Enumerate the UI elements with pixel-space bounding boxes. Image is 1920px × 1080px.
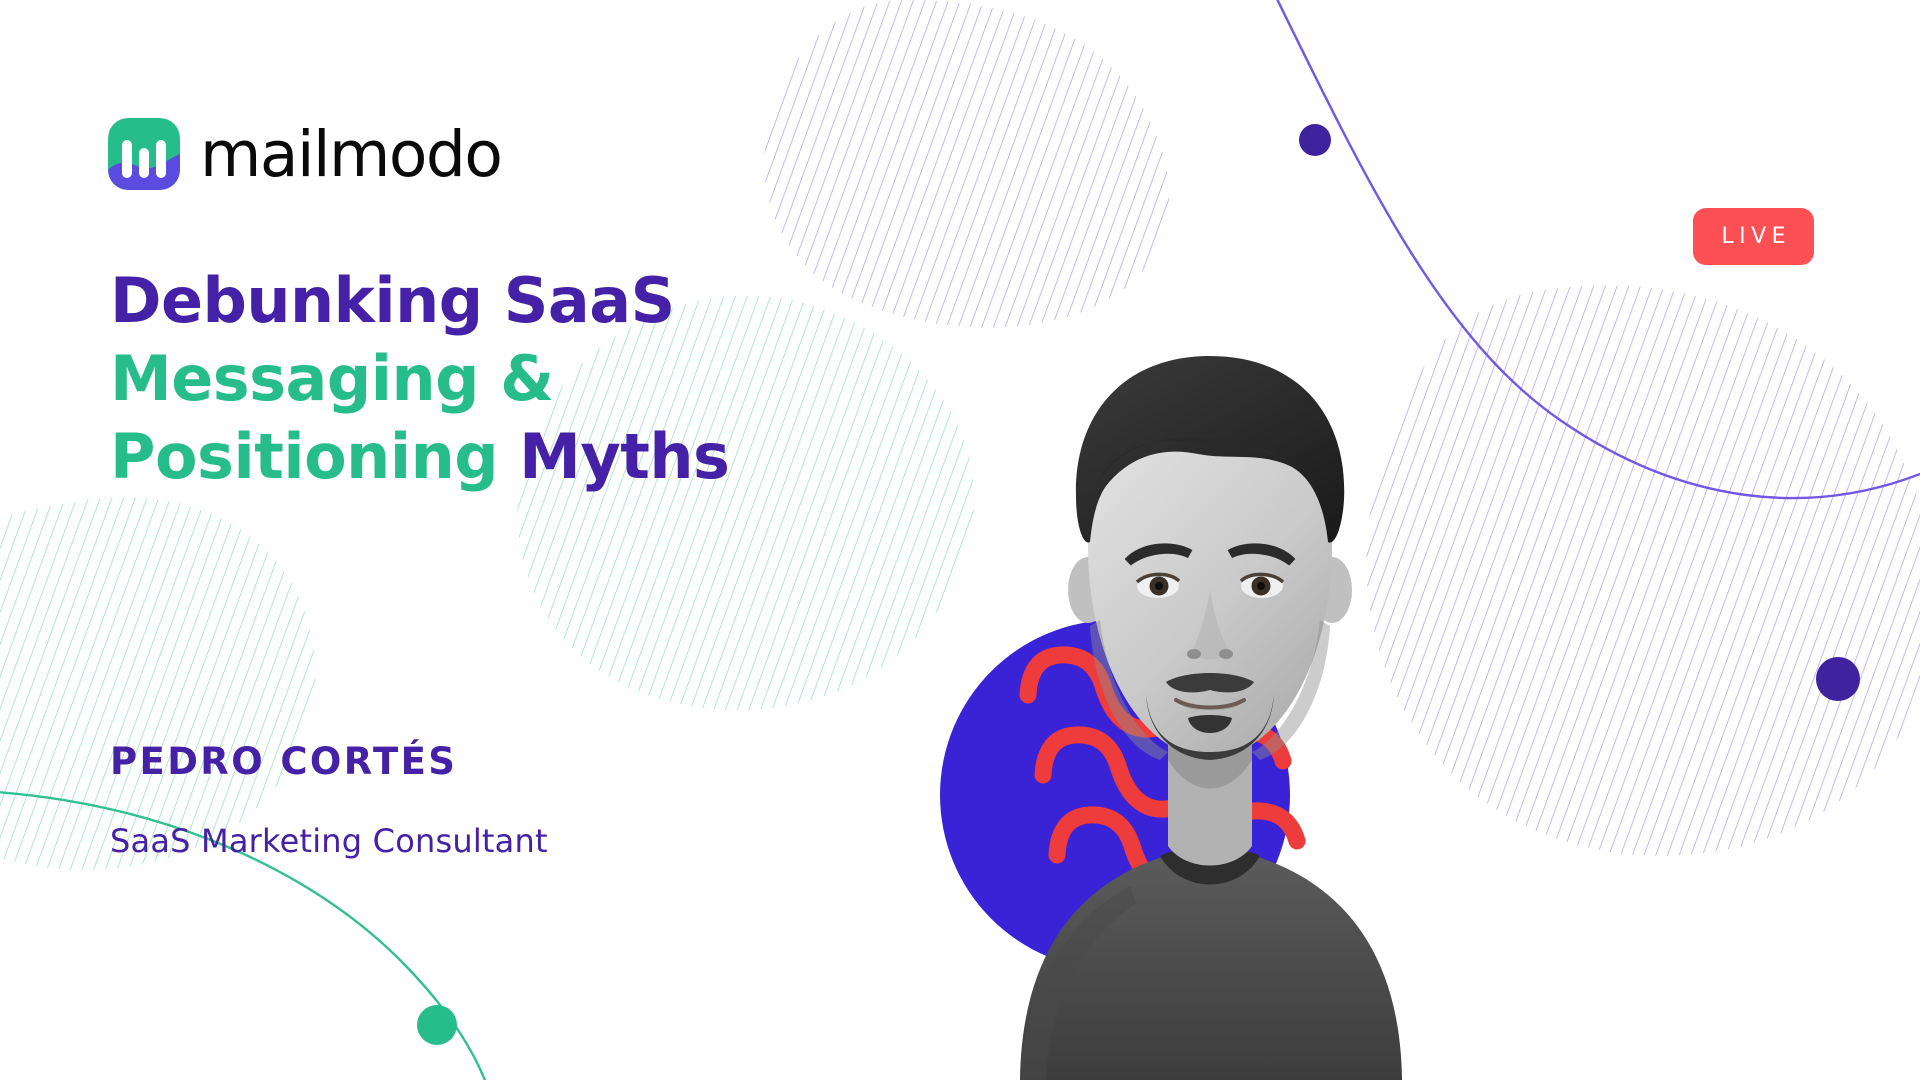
webinar-promo-canvas: mailmodo LIVE Debunking SaaS Messaging &… [0,0,1920,1080]
status-badge-live: LIVE [1693,208,1814,265]
headline-line-1: Debunking SaaS [110,262,910,340]
green-dot-bottom [417,1005,457,1045]
live-badge-label: LIVE [1716,224,1791,249]
headline-line-3-green: Positioning [110,420,519,493]
purple-dot-right [1816,657,1860,701]
speaker-portrait [960,290,1460,1080]
mailmodo-logo-icon [108,118,180,190]
page-title: Debunking SaaS Messaging & Positioning M… [110,262,910,496]
brand-wordmark: mailmodo [200,123,501,186]
headline-line-3: Positioning Myths [110,418,910,496]
speaker-name: PEDRO CORTÉS [110,740,457,783]
headline-line-3-purple: Myths [519,420,729,493]
brand-logo[interactable]: mailmodo [108,118,501,190]
headline-line-2: Messaging & [110,340,910,418]
speaker-role: SaaS Marketing Consultant [110,822,548,860]
purple-dot-top [1299,124,1331,156]
